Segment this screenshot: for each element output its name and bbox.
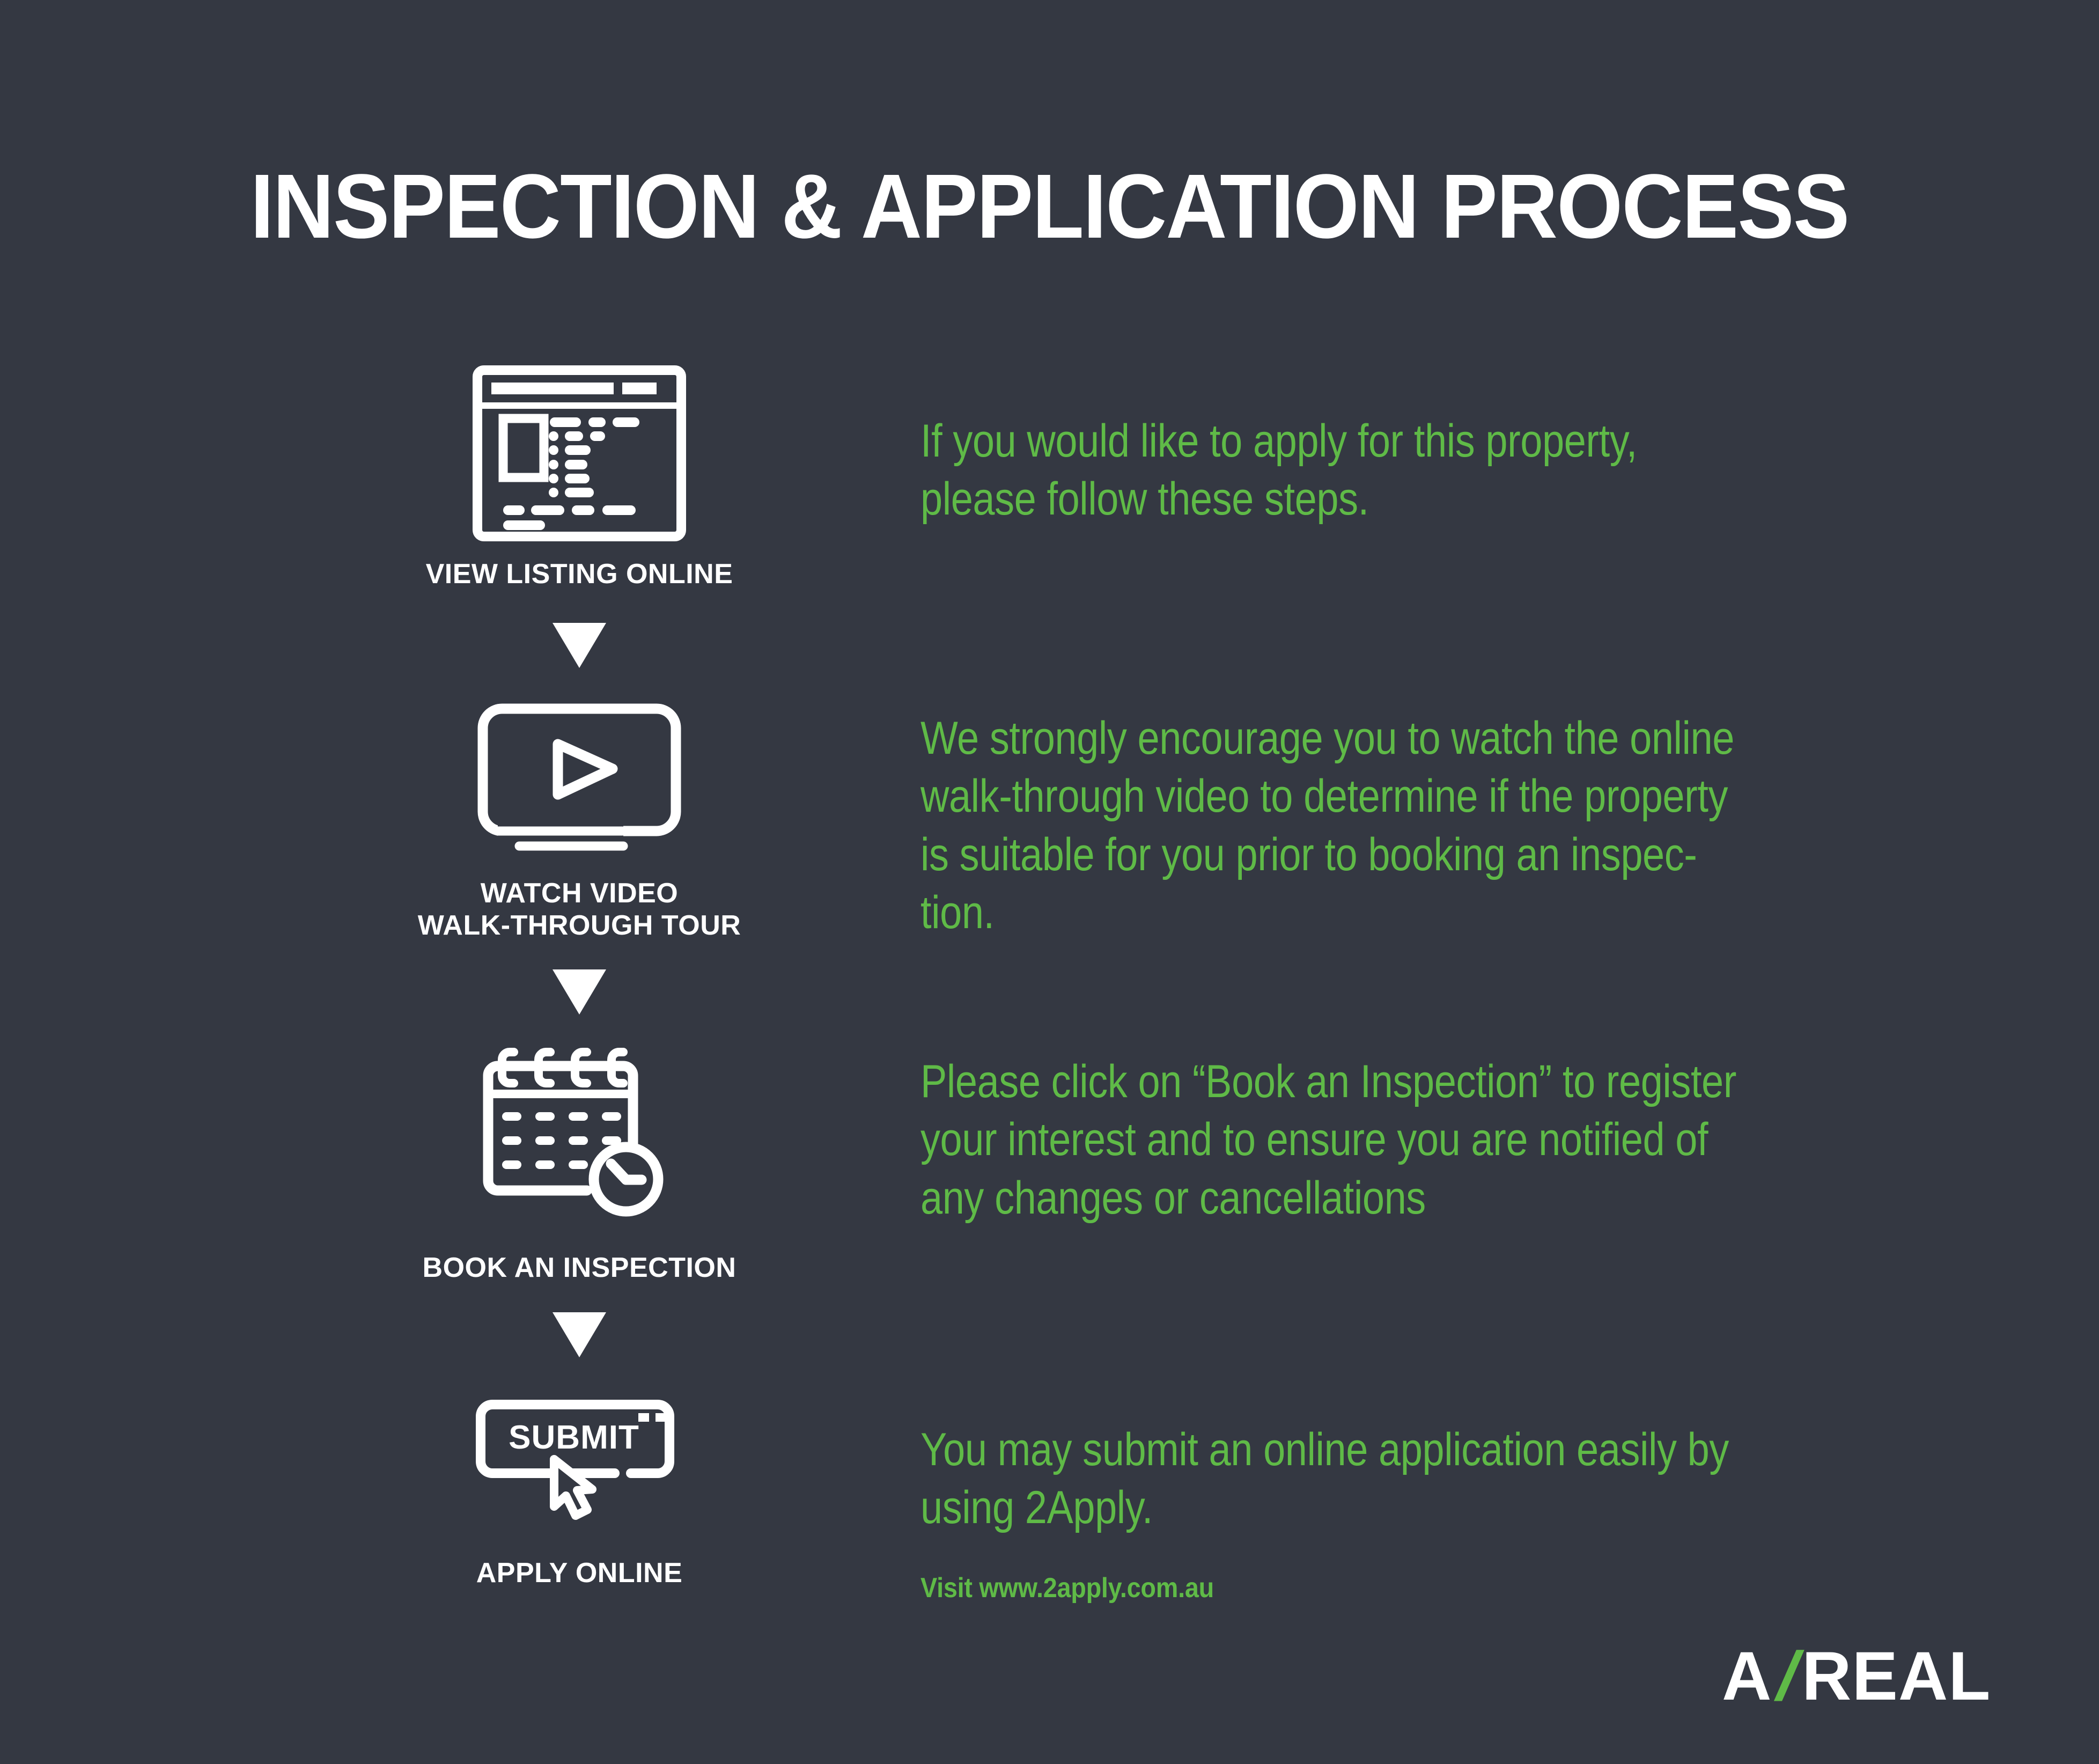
submit-button-cursor-icon: SUBMIT: [467, 1385, 692, 1543]
visit-website-link[interactable]: Visit www.2apply.com.au: [920, 1572, 1214, 1604]
chevron-down-triangle-icon: [553, 969, 606, 1015]
video-play-screen-icon: [472, 700, 687, 864]
logo-word-real: REAL: [1802, 1642, 1991, 1711]
step-watch-video: WATCH VIDEO WALK-THROUGH TOUR: [375, 700, 783, 942]
process-flow-column: VIEW LISTING ONLINE WATCH VIDE: [375, 365, 783, 1590]
step-label-apply-online: APPLY ONLINE: [476, 1557, 683, 1590]
calendar-clock-icon: [472, 1042, 687, 1238]
step-copy-book-inspection: Please click on “Book an Inspection” to …: [920, 1053, 1898, 1227]
svg-text:SUBMIT: SUBMIT: [509, 1419, 639, 1456]
flow-arrow-3: [375, 1312, 783, 1357]
page-title: INSPECTION & APPLICATION PROCESS: [73, 161, 2026, 252]
logo-letter-a: A: [1722, 1642, 1772, 1711]
step-copy-watch-video: We strongly encourage you to watch the o…: [920, 709, 1898, 942]
flow-arrow-2: [375, 969, 783, 1015]
step-apply-online: SUBMIT APPLY ONLINE: [375, 1385, 783, 1590]
flow-arrow-1: [375, 623, 783, 668]
infographic-poster: INSPECTION & APPLICATION PROCESS: [0, 0, 2099, 1764]
step-book-an-inspection: BOOK AN INSPECTION: [375, 1042, 783, 1284]
browser-listing-icon: [472, 365, 687, 545]
step-copy-apply-online: You may submit an online application eas…: [920, 1421, 1898, 1537]
step-copy-view-listing: If you would like to apply for this prop…: [920, 412, 1866, 528]
step-view-listing-online: VIEW LISTING ONLINE: [375, 365, 783, 591]
chevron-down-triangle-icon: [553, 623, 606, 668]
chevron-down-triangle-icon: [553, 1312, 606, 1357]
step-label-view-listing-online: VIEW LISTING ONLINE: [426, 558, 733, 591]
step-label-watch-video: WATCH VIDEO WALK-THROUGH TOUR: [418, 878, 741, 942]
step-label-book-an-inspection: BOOK AN INSPECTION: [423, 1252, 737, 1284]
brand-logo: A / REAL: [1722, 1642, 1991, 1711]
